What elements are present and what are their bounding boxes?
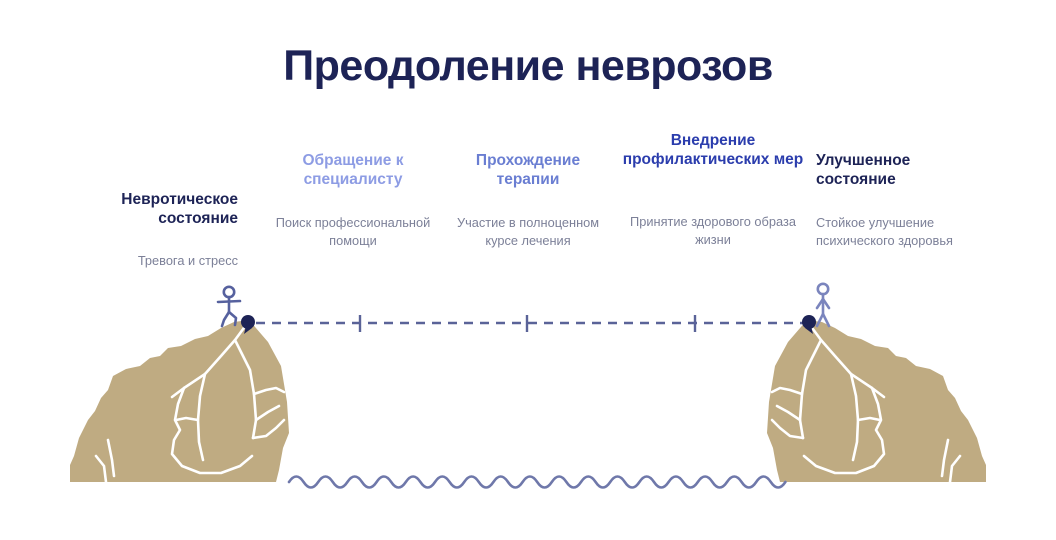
water-waves xyxy=(289,477,785,488)
step-improved-state: Улучшенное состояние Стойкое улучшение п… xyxy=(816,151,982,189)
left-mountain-icon xyxy=(70,320,289,482)
journey-path xyxy=(241,315,816,334)
step-undergo-therapy: Прохождение терапии Участие в полноценно… xyxy=(450,151,606,189)
step-description-seek-specialist: Поиск профессиональной помощи xyxy=(272,214,434,249)
walking-person-icon xyxy=(218,287,240,326)
step-description-preventive-measures: Принятие здорового образа жизни xyxy=(620,213,806,248)
right-mountain-icon xyxy=(767,320,986,482)
step-seek-specialist: Обращение к специалисту Поиск профессион… xyxy=(272,151,434,189)
step-title-neurotic-state: Невротическое состояние xyxy=(78,190,238,228)
step-preventive-measures: Внедрение профилактических мер Принятие … xyxy=(620,131,806,169)
step-description-improved-state: Стойкое улучшение психического здоровья xyxy=(816,214,982,249)
step-description-neurotic-state: Тревога и стресс xyxy=(78,252,238,270)
page-title: Преодоление неврозов xyxy=(0,42,1056,91)
mountain-scene xyxy=(0,270,1056,540)
step-title-undergo-therapy: Прохождение терапии xyxy=(450,151,606,189)
standing-person-icon xyxy=(817,284,829,326)
step-neurotic-state: Невротическое состояние Тревога и стресс xyxy=(78,190,238,228)
step-description-undergo-therapy: Участие в полноценном курсе лечения xyxy=(450,214,606,249)
step-title-seek-specialist: Обращение к специалисту xyxy=(272,151,434,189)
infographic-canvas: Преодоление неврозов Невротическое состо… xyxy=(0,0,1056,540)
step-title-preventive-measures: Внедрение профилактических мер xyxy=(620,131,806,169)
step-title-improved-state: Улучшенное состояние xyxy=(816,151,982,189)
